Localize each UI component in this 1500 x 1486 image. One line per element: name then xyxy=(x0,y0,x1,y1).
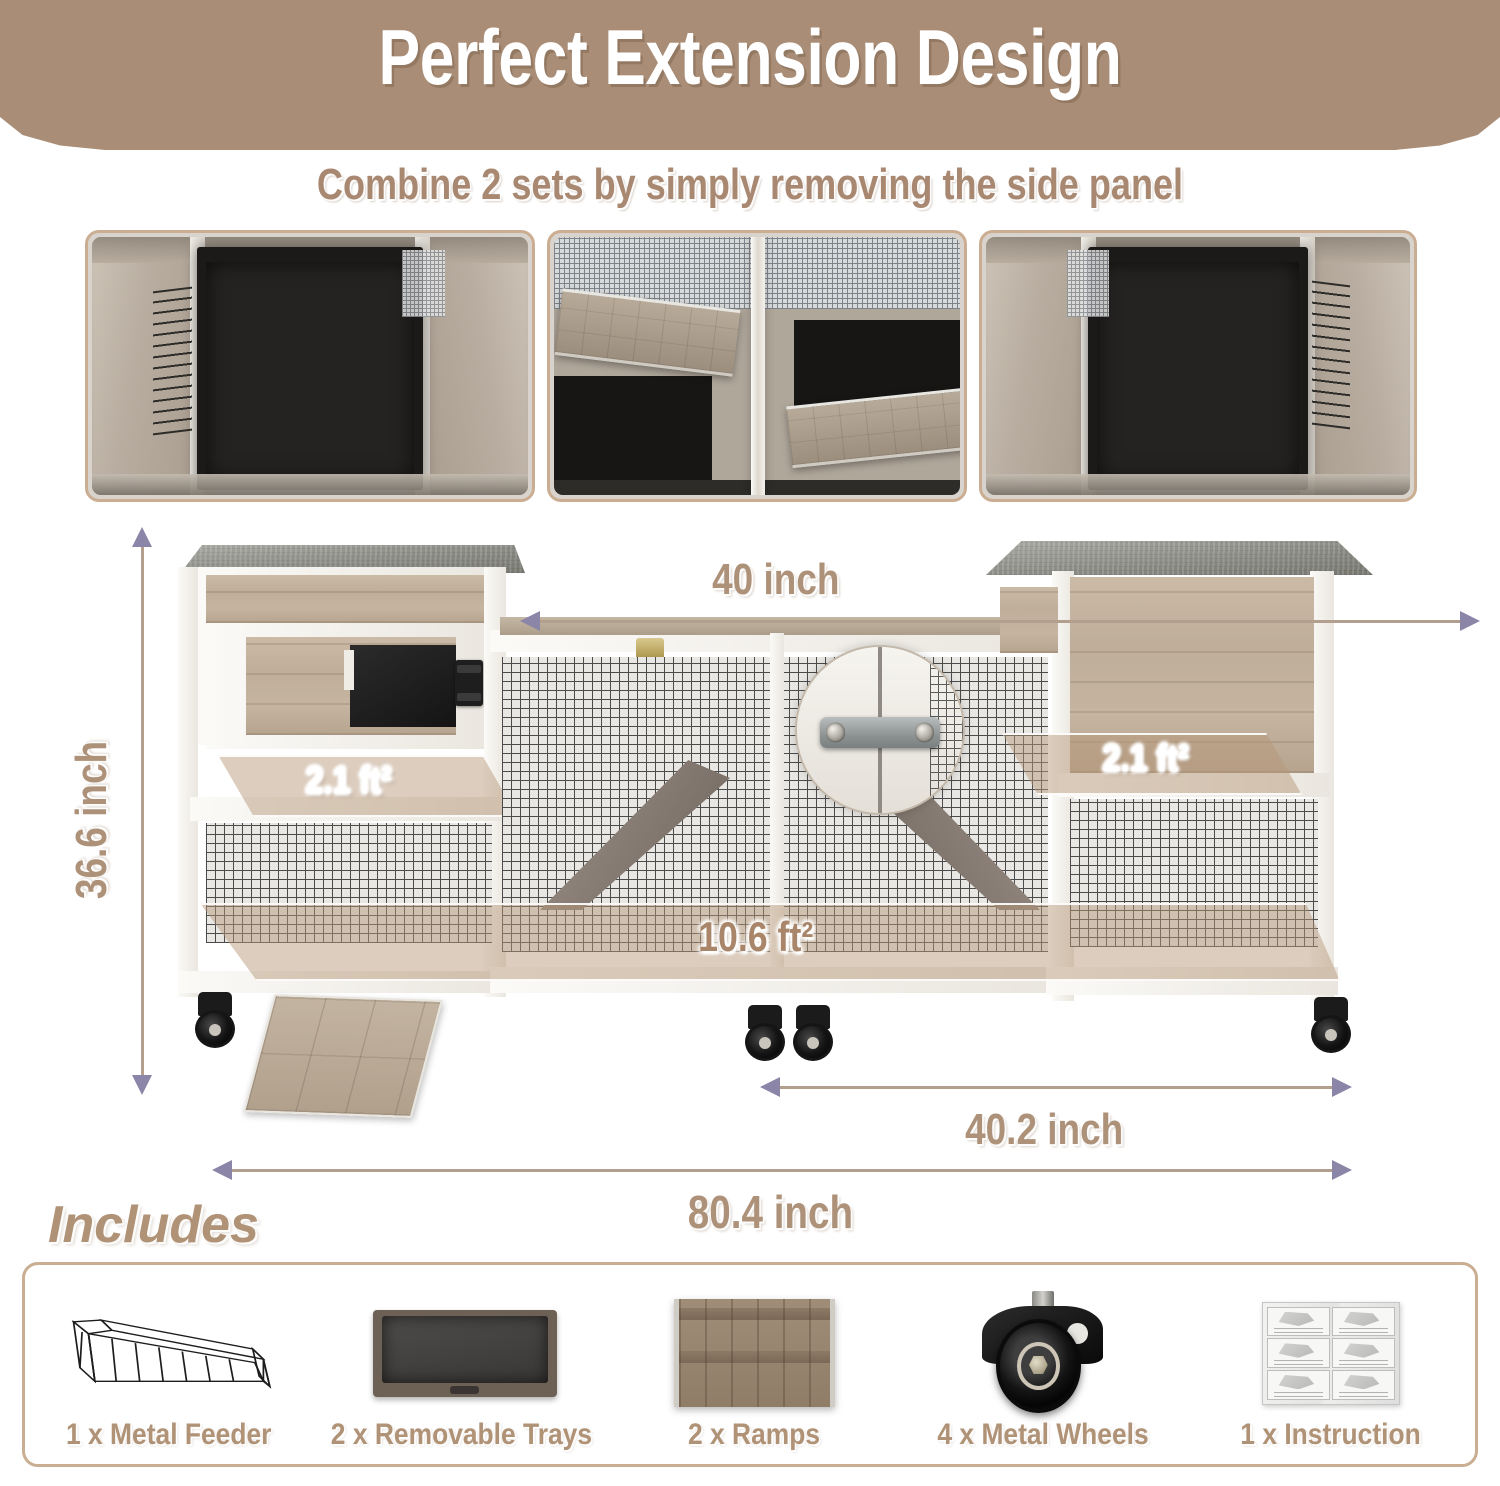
page-subtitle: Combine 2 sets by simply removing the si… xyxy=(135,160,1365,210)
left-post-outer xyxy=(178,567,198,997)
top-width-dimension-line xyxy=(540,620,1460,623)
include-label: 1 x Metal Feeder xyxy=(66,1418,271,1452)
height-dimension-label: 36.6 inch xyxy=(67,741,117,899)
includes-heading: Includes xyxy=(48,1195,259,1255)
right-width-dimension-line xyxy=(780,1086,1332,1089)
right-width-arrow-left xyxy=(760,1077,780,1097)
left-door-edge xyxy=(344,650,354,690)
include-item-instruction: 1 x Instruction xyxy=(1187,1265,1475,1464)
height-arrow-up xyxy=(132,527,152,547)
height-arrow-down xyxy=(132,1075,152,1095)
photo-dual-section xyxy=(554,237,960,495)
include-item-ramps: 2 x Ramps xyxy=(610,1265,898,1464)
include-label: 1 x Instruction xyxy=(1241,1418,1421,1452)
metal-feeder-icon xyxy=(1312,281,1350,430)
include-item-removable-trays: 2 x Removable Trays xyxy=(313,1265,610,1464)
right-roof xyxy=(978,541,1373,575)
caster-wheel xyxy=(742,1005,788,1061)
height-dimension-line xyxy=(141,547,144,1075)
right-width-dimension-label: 40.2 inch xyxy=(965,1105,1123,1155)
total-width-arrow-left xyxy=(212,1160,232,1180)
removable-tray-icon xyxy=(373,1310,557,1397)
top-width-arrow-right xyxy=(1460,611,1480,631)
left-door-opening xyxy=(350,645,456,727)
connector-plate-callout[interactable] xyxy=(795,645,965,815)
include-label: 2 x Removable Trays xyxy=(331,1418,592,1452)
caster-wheel xyxy=(1308,997,1354,1053)
includes-box: 1 x Metal Feeder 2 x Removable Trays 2 x… xyxy=(22,1262,1478,1467)
metal-feeder-icon xyxy=(153,286,192,435)
thumbnail-interior-tray-right-feeder[interactable] xyxy=(979,230,1417,502)
include-label: 2 x Ramps xyxy=(688,1418,820,1452)
right-width-arrow-right xyxy=(1332,1077,1352,1097)
top-width-dimension-label: 40 inch xyxy=(712,555,839,605)
thumbnail-interior-tray-left-feeder[interactable] xyxy=(85,230,535,502)
caster-wheel xyxy=(790,1005,836,1061)
entry-ramp xyxy=(243,994,443,1118)
screw-icon xyxy=(915,723,934,742)
metal-wheel-icon xyxy=(973,1291,1111,1412)
total-width-dimension-label: 80.4 inch xyxy=(688,1185,853,1239)
metal-plate-icon xyxy=(820,717,940,749)
include-item-metal-feeder: 1 x Metal Feeder xyxy=(25,1265,313,1464)
photo-interior-right xyxy=(986,237,1410,495)
photo-interior-left xyxy=(92,237,528,495)
left-upper-hinge xyxy=(455,660,483,706)
left-upper-back-panel xyxy=(206,575,494,623)
center-divider-post xyxy=(751,237,765,495)
instruction-manual-icon xyxy=(1262,1302,1400,1405)
lower-run-area-label: 10.6 ft² xyxy=(698,913,813,961)
upper-right-area-label: 2.1 ft² xyxy=(1103,738,1189,781)
thumbnail-combined-two-sets[interactable] xyxy=(547,230,967,502)
caster-wheel xyxy=(192,992,238,1048)
page-title: Perfect Extension Design xyxy=(150,12,1350,103)
screw-icon xyxy=(826,723,845,742)
include-item-metal-wheels: 4 x Metal Wheels xyxy=(898,1265,1186,1464)
product-illustration: 2.1 ft² 2.1 ft² 10.6 ft² 36.6 inch xyxy=(0,505,1500,1205)
total-width-arrow-right xyxy=(1332,1160,1352,1180)
metal-feeder-icon xyxy=(65,1315,278,1392)
upper-left-area-label: 2.1 ft² xyxy=(306,760,392,803)
total-width-dimension-line xyxy=(232,1169,1332,1172)
ramp-icon xyxy=(674,1299,835,1407)
top-width-arrow-left xyxy=(520,611,540,631)
include-label: 4 x Metal Wheels xyxy=(937,1418,1148,1452)
black-tray xyxy=(197,247,424,490)
black-tray xyxy=(1088,247,1308,490)
thumbnail-strip xyxy=(85,230,1417,502)
